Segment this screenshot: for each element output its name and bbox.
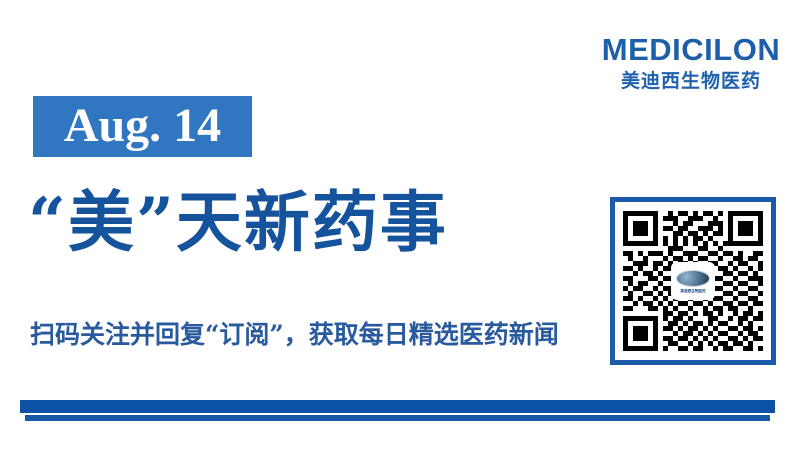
brand-chinese-name: 美迪西生物医药 — [596, 72, 786, 91]
qr-center-logo-emblem — [676, 270, 710, 287]
qr-center-logo-caption: 美迪西生物医药 — [680, 289, 705, 293]
divider-thin — [25, 415, 770, 421]
date-badge-label: Aug. 14 — [64, 102, 221, 150]
news-banner: MEDICILON 美迪西生物医药 Aug. 14 “美”天新药事 扫码关注并回… — [0, 0, 800, 468]
divider-thick — [20, 400, 775, 413]
brand-wordmark: MEDICILON — [596, 34, 786, 65]
qr-center-logo: 美迪西生物医药 — [672, 263, 714, 299]
qr-code-frame[interactable]: 美迪西生物医药 — [610, 197, 776, 365]
brand-logo: MEDICILON 美迪西生物医药 — [596, 34, 786, 91]
headline-title: “美”天新药事 — [28, 186, 588, 260]
date-badge: Aug. 14 — [33, 96, 252, 157]
subtitle-instruction: 扫码关注并回复“订阅”，获取每日精选医药新闻 — [30, 320, 610, 350]
qr-code-image[interactable]: 美迪西生物医药 — [623, 210, 763, 352]
